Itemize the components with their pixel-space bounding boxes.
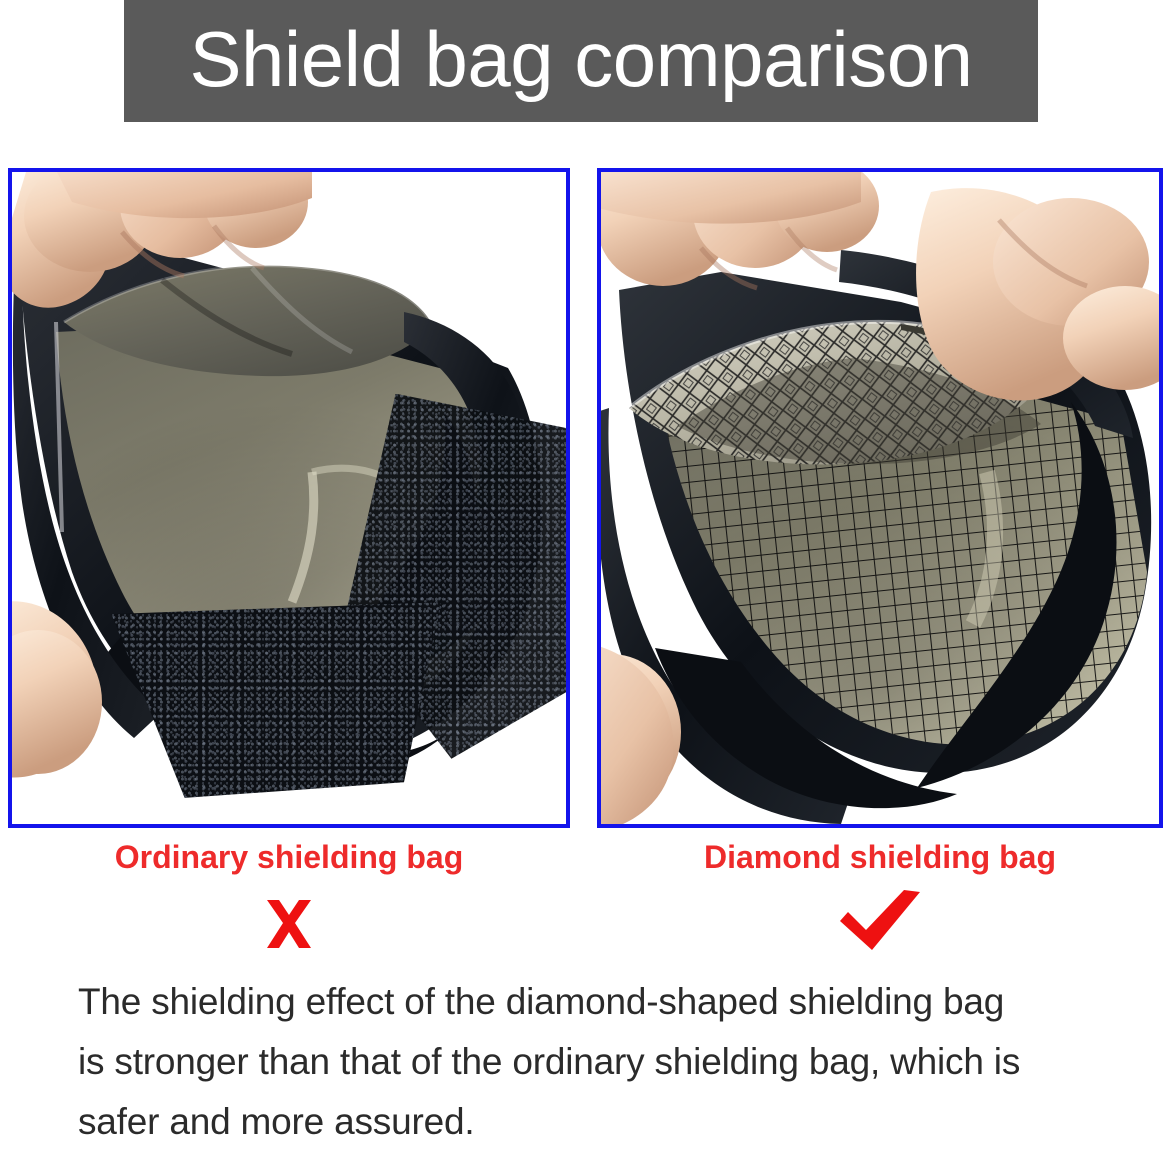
description-line-1: The shielding effect of the diamond-shap… xyxy=(78,972,1108,1032)
photo-panel-ordinary xyxy=(8,168,570,828)
description-line-3: safer and more assured. xyxy=(78,1092,1108,1152)
description-line-2: is stronger than that of the ordinary sh… xyxy=(78,1032,1108,1092)
header-banner: Shield bag comparison xyxy=(124,0,1038,122)
caption-ordinary-shielding-bag: Ordinary shielding bag xyxy=(8,841,570,873)
cross-icon xyxy=(261,896,317,952)
description-paragraph: The shielding effect of the diamond-shap… xyxy=(78,972,1108,1152)
page-title: Shield bag comparison xyxy=(124,20,1038,102)
diamond-bag-illustration xyxy=(601,172,1159,824)
verdict-diamond xyxy=(597,886,1163,956)
check-icon xyxy=(838,890,922,952)
photo-ordinary-shielding-bag xyxy=(12,172,566,824)
verdict-ordinary xyxy=(8,893,570,955)
caption-diamond-shielding-bag: Diamond shielding bag xyxy=(597,841,1163,873)
photo-diamond-shielding-bag xyxy=(601,172,1159,824)
photo-panel-diamond xyxy=(597,168,1163,828)
